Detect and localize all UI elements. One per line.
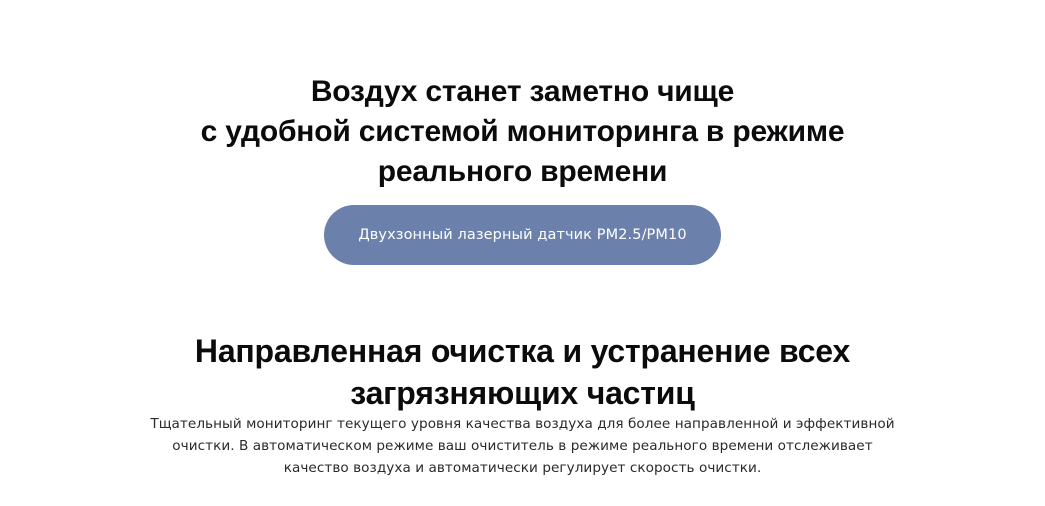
feature-description: Тщательный мониторинг текущего уровня ка… bbox=[147, 413, 899, 479]
landing-section: Воздух станет заметно чище с удобной сис… bbox=[0, 0, 1045, 506]
cta-button-row: Двухзонный лазерный датчик PM2.5/PM10 bbox=[0, 205, 1045, 265]
sensor-spec-button[interactable]: Двухзонный лазерный датчик PM2.5/PM10 bbox=[324, 205, 720, 265]
feature-heading: Направленная очистка и устранение всех з… bbox=[0, 330, 1045, 414]
hero-heading: Воздух станет заметно чище с удобной сис… bbox=[0, 72, 1045, 192]
